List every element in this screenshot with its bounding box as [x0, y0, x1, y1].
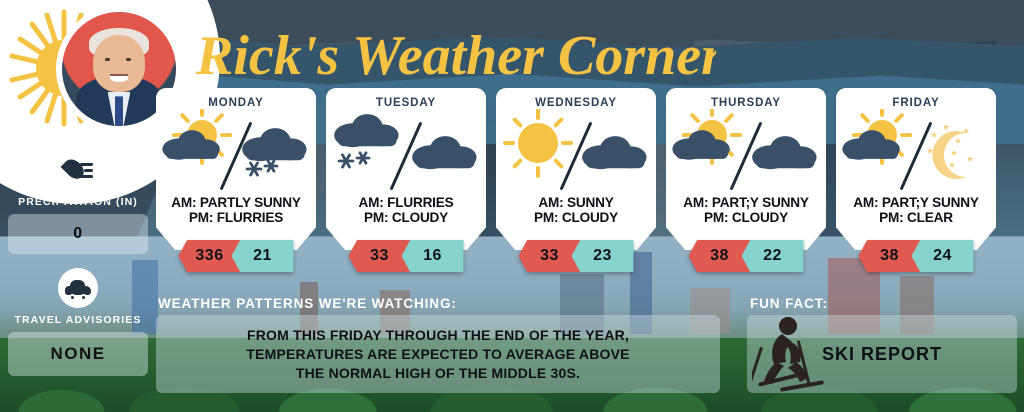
- forecast-card-wrapper: THURSDAY AM: PART;Y SUNNY PM: CLOUDY 38 …: [666, 88, 826, 253]
- patterns-line-3: THE NORMAL HIGH OF THE MIDDLE 30S.: [296, 365, 580, 381]
- car-body: [65, 286, 91, 295]
- patterns-line-1: FROM THIS FRIDAY THROUGH THE END OF THE …: [247, 327, 629, 343]
- forecast-icons: [836, 109, 996, 195]
- temperature-badge: 38 22: [689, 240, 804, 272]
- page-title: Rick's Weather Corner: [196, 20, 716, 92]
- forecast-card-wrapper: TUESDAY AM: FLURRIES PM: CLOUDY 33 16: [326, 88, 486, 253]
- forecast-card-friday[interactable]: FRIDAY AM: PART;Y SUNNY PM: CLEAR: [836, 88, 996, 250]
- high-temperature: 33: [519, 240, 581, 272]
- travel-advisories-value: NONE: [8, 332, 148, 376]
- precipitation-label: PRECIPITATION (IN): [8, 196, 148, 208]
- low-temperature: 16: [402, 240, 464, 272]
- weather-patterns-text: FROM THIS FRIDAY THROUGH THE END OF THE …: [246, 326, 629, 383]
- photo-tie: [115, 96, 123, 126]
- svg-text:Rick's Weather Corner: Rick's Weather Corner: [196, 25, 716, 87]
- forecast-pm-line: PM: CLOUDY: [326, 210, 486, 225]
- ski-report-text: SKI REPORT: [822, 344, 942, 365]
- droplet-line: [80, 163, 93, 166]
- cloud-icon: [746, 109, 824, 195]
- car-wheel: [69, 294, 76, 301]
- temperature-badge: 33 16: [349, 240, 464, 272]
- high-temperature: 38: [689, 240, 751, 272]
- weather-graphic: Rick's Weather Corner PRECIPITATION (IN)…: [0, 0, 1024, 412]
- low-temperature: 24: [912, 240, 974, 272]
- forecast-card-thursday[interactable]: THURSDAY AM: PART;Y SUNNY PM: CLOUDY: [666, 88, 826, 250]
- forecast-day-label: FRIDAY: [836, 88, 996, 109]
- stats-panel: PRECIPITATION (IN) 0 TRAVEL ADVISORIES N…: [8, 150, 148, 390]
- droplet-line: [84, 169, 93, 172]
- temperature-badge: 33 23: [519, 240, 634, 272]
- photo-eye: [105, 58, 110, 61]
- forecast-day-label: THURSDAY: [666, 88, 826, 109]
- car-wheel: [80, 294, 87, 301]
- high-temperature: 33: [349, 240, 411, 272]
- high-temperature: 336: [179, 240, 241, 272]
- forecast-icons: [666, 109, 826, 195]
- cloud-icon: [406, 109, 484, 195]
- droplet-line: [80, 175, 93, 178]
- forecast-card-monday[interactable]: MONDAY AM: PARTLY SUNNY PM: FLURRIES: [156, 88, 316, 250]
- forecast-conditions: AM: PART;Y SUNNY PM: CLOUDY: [666, 195, 826, 225]
- forecast-card-tuesday[interactable]: TUESDAY AM: FLURRIES PM: CLOUDY: [326, 88, 486, 250]
- forecast-cards: MONDAY AM: PARTLY SUNNY PM: FLURRIES 336…: [156, 88, 1024, 253]
- photo-face: [93, 35, 145, 92]
- forecast-pm-line: PM: CLEAR: [836, 210, 996, 225]
- moon-stars-icon: [916, 109, 994, 195]
- forecast-conditions: AM: SUNNY PM: CLOUDY: [496, 195, 656, 225]
- forecast-am-line: AM: PART;Y SUNNY: [683, 195, 808, 210]
- forecast-icons: [496, 109, 656, 195]
- forecast-day-label: WEDNESDAY: [496, 88, 656, 109]
- forecast-card-wrapper: WEDNESDAY AM: SUNNY PM: CLOUDY 33 23: [496, 88, 656, 253]
- travel-advisories-label: TRAVEL ADVISORIES: [8, 314, 148, 326]
- forecast-conditions: AM: FLURRIES PM: CLOUDY: [326, 195, 486, 225]
- forecast-am-line: AM: PARTLY SUNNY: [171, 195, 300, 210]
- low-temperature: 21: [232, 240, 294, 272]
- precipitation-value: 0: [8, 214, 148, 254]
- forecast-pm-line: PM: FLURRIES: [156, 210, 316, 225]
- forecast-pm-line: PM: CLOUDY: [666, 210, 826, 225]
- forecast-icons: [326, 109, 486, 195]
- forecast-conditions: AM: PART;Y SUNNY PM: CLEAR: [836, 195, 996, 225]
- forecast-card-wednesday[interactable]: WEDNESDAY AM: SUNNY PM: CLOUDY: [496, 88, 656, 250]
- forecast-pm-line: PM: CLOUDY: [496, 210, 656, 225]
- temperature-badge: 38 24: [859, 240, 974, 272]
- snow-cloud-icon: [236, 109, 314, 195]
- forecast-day-label: TUESDAY: [326, 88, 486, 109]
- forecast-conditions: AM: PARTLY SUNNY PM: FLURRIES: [156, 195, 316, 225]
- cloud-icon: [576, 109, 654, 195]
- forecast-card-wrapper: MONDAY AM: PARTLY SUNNY PM: FLURRIES 336…: [156, 88, 316, 253]
- fun-fact-label: FUN FACT:: [750, 296, 828, 311]
- forecast-day-label: MONDAY: [156, 88, 316, 109]
- patterns-line-2: TEMPERATURES ARE EXPECTED TO AVERAGE ABO…: [246, 346, 629, 362]
- forecast-am-line: AM: PART;Y SUNNY: [853, 195, 978, 210]
- forecast-icons: [156, 109, 316, 195]
- car-icon: [58, 268, 98, 308]
- temperature-badge: 336 21: [179, 240, 294, 272]
- low-temperature: 22: [742, 240, 804, 272]
- skier-icon: [752, 312, 830, 394]
- photo-mouth: [110, 74, 128, 82]
- forecast-am-line: AM: FLURRIES: [358, 195, 453, 210]
- forecast-am-line: AM: SUNNY: [538, 195, 613, 210]
- forecast-card-wrapper: FRIDAY AM: PART;Y SUNNY PM: CLEAR 38 24: [836, 88, 996, 253]
- weather-patterns-label: WEATHER PATTERNS WE'RE WATCHING:: [158, 296, 457, 311]
- low-temperature: 23: [572, 240, 634, 272]
- photo-eye: [126, 58, 131, 61]
- weather-patterns-box: FROM THIS FRIDAY THROUGH THE END OF THE …: [156, 315, 720, 393]
- high-temperature: 38: [859, 240, 921, 272]
- water-droplet-icon: [58, 150, 98, 190]
